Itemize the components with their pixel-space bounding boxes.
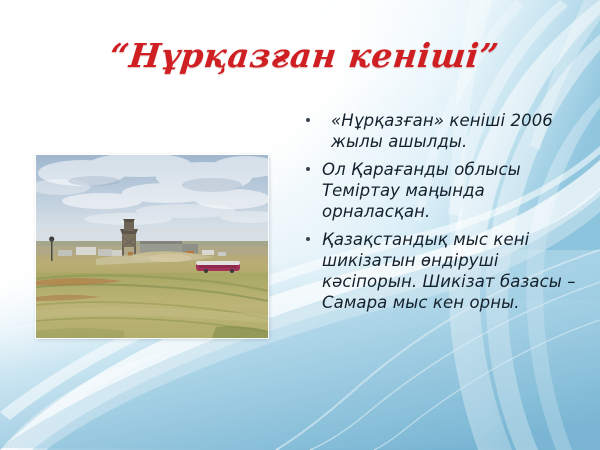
list-item: Қазақстандық мыс кені шикізатын өндіруші… — [300, 229, 580, 313]
bullet-dot-icon — [306, 167, 310, 171]
list-item: «Нұрқазған» кеніші 2006 жылы ашылды. — [300, 110, 580, 152]
bullet-dot-icon — [306, 237, 310, 241]
bullet-list: «Нұрқазған» кеніші 2006 жылы ашылды. Ол … — [300, 110, 580, 313]
bullet-text: Қазақстандық мыс кені шикізатын өндіруші… — [322, 229, 580, 313]
bullet-text: «Нұрқазған» кеніші 2006 жылы ашылды. — [322, 110, 580, 152]
page-title: “Нұрқазған кеніші” — [108, 36, 501, 75]
bullet-dot-icon — [306, 118, 310, 122]
presentation-slide: “Нұрқазған кеніші” — [0, 0, 600, 450]
bullet-text: Ол Қарағанды облысы Теміртау маңында орн… — [322, 159, 580, 222]
list-item: Ол Қарағанды облысы Теміртау маңында орн… — [300, 159, 580, 222]
mine-site-photograph — [36, 155, 268, 338]
